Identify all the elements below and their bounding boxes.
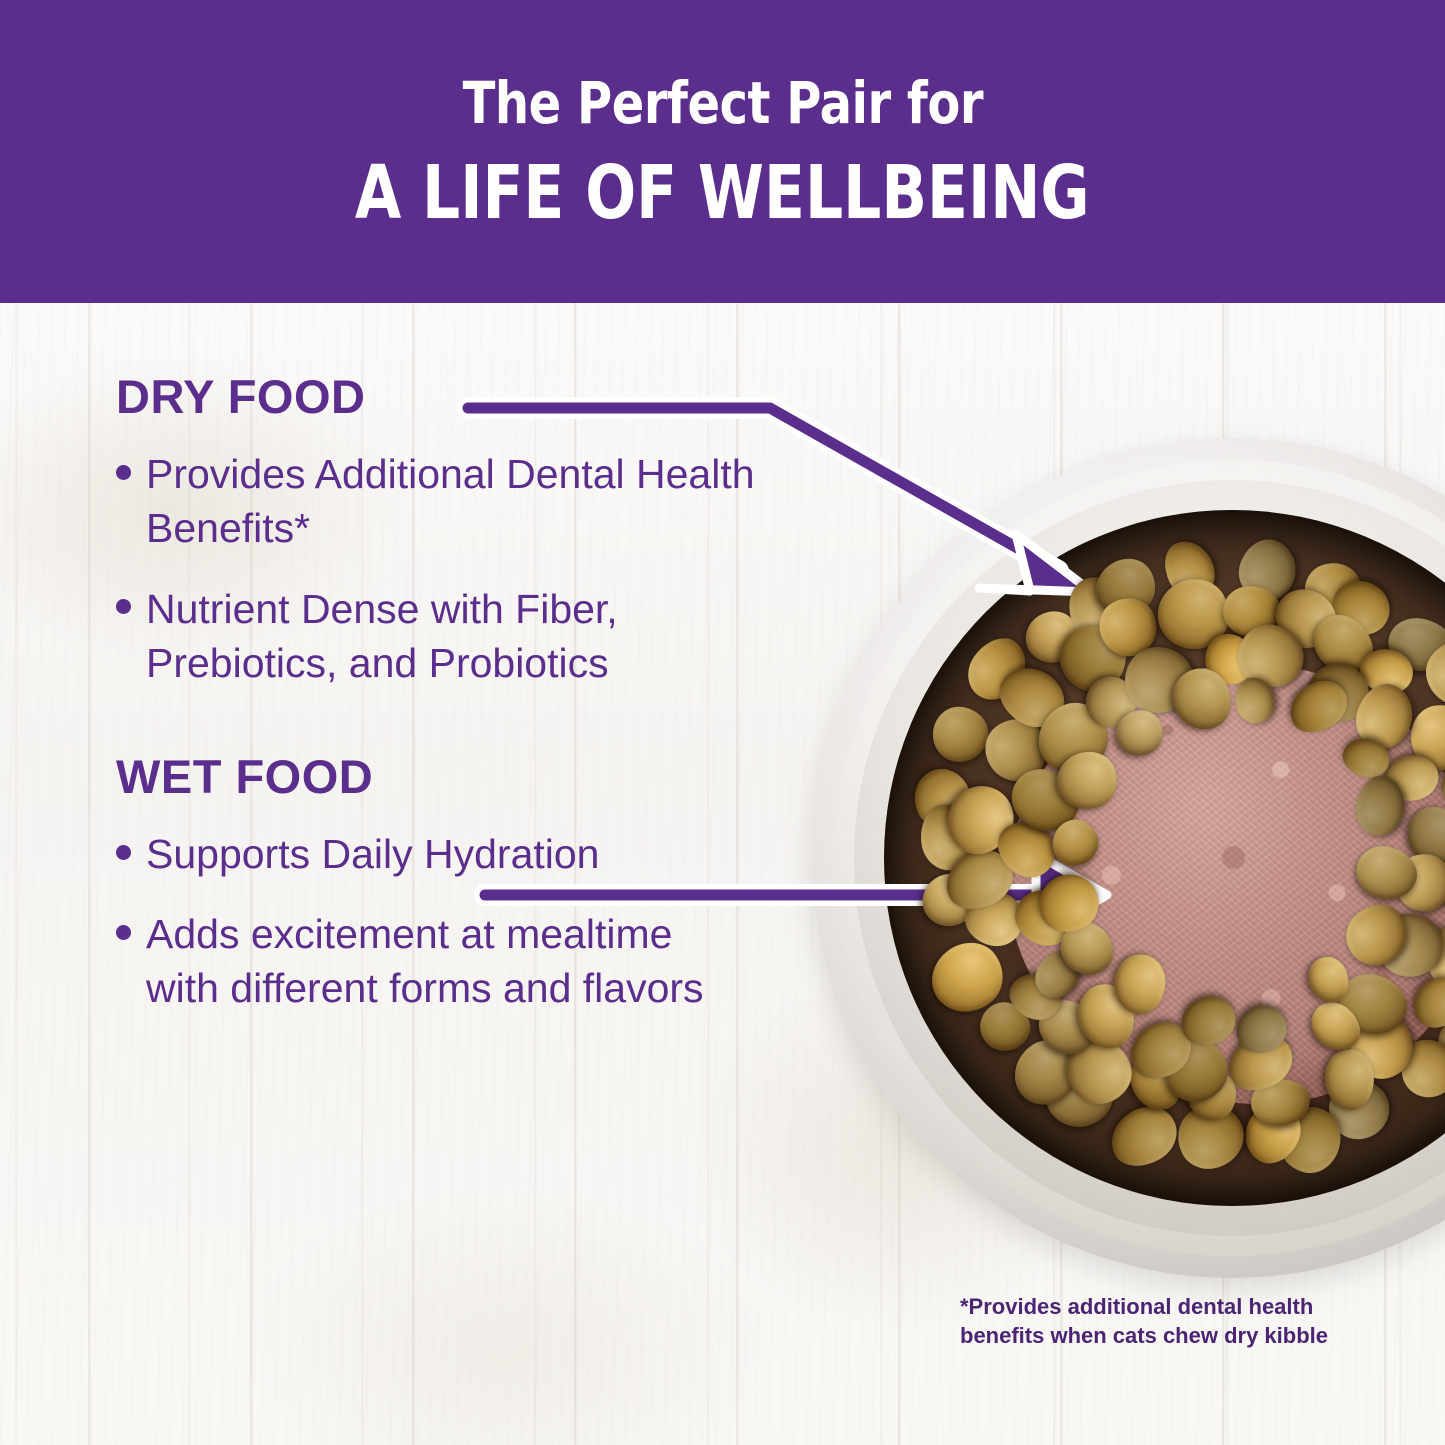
bullet-text: Supports Daily Hydration <box>146 831 599 877</box>
bullet-list-wet-food: Supports Daily Hydration Adds excitement… <box>116 827 816 1015</box>
footnote-line-1: *Provides additional dental health <box>960 1292 1380 1321</box>
bullet-text: Provides Additional Dental Health Benefi… <box>146 451 755 551</box>
bullet-dot-icon <box>116 925 131 940</box>
bullet-list-dry-food: Provides Additional Dental Health Benefi… <box>116 447 816 689</box>
bullet-dot-icon <box>116 599 131 614</box>
section-title-wet-food: WET FOOD <box>116 752 816 801</box>
header-title: A LIFE OF WELLBEING <box>355 156 1090 230</box>
footnote-line-2: benefits when cats chew dry kibble <box>960 1321 1380 1350</box>
bowl-outer-rim <box>812 438 1445 1278</box>
section-wet-food: WET FOOD Supports Daily Hydration Adds e… <box>116 752 816 1016</box>
bullet-text: Nutrient Dense with Fiber, Prebiotics, a… <box>146 586 618 686</box>
header-subtitle: The Perfect Pair for <box>462 74 982 132</box>
copy-column: DRY FOOD Provides Additional Dental Heal… <box>116 372 816 1041</box>
list-item: Adds excitement at mealtime with differe… <box>116 907 756 1015</box>
bullet-text: Adds excitement at mealtime with differe… <box>146 911 704 1011</box>
list-item: Nutrient Dense with Fiber, Prebiotics, a… <box>116 582 756 690</box>
section-dry-food: DRY FOOD Provides Additional Dental Heal… <box>116 372 816 690</box>
kibble-piece <box>1101 1096 1187 1178</box>
pet-bowl-image <box>812 438 1445 1288</box>
kibble-piece <box>930 704 992 766</box>
section-title-dry-food: DRY FOOD <box>116 372 816 421</box>
bullet-dot-icon <box>116 845 131 860</box>
infographic-canvas: The Perfect Pair for A LIFE OF WELLBEING… <box>0 0 1445 1445</box>
footnote: *Provides additional dental health benef… <box>960 1292 1380 1351</box>
list-item: Supports Daily Hydration <box>116 827 756 881</box>
header-banner: The Perfect Pair for A LIFE OF WELLBEING <box>0 0 1445 303</box>
bullet-dot-icon <box>116 465 131 480</box>
list-item: Provides Additional Dental Health Benefi… <box>116 447 756 555</box>
